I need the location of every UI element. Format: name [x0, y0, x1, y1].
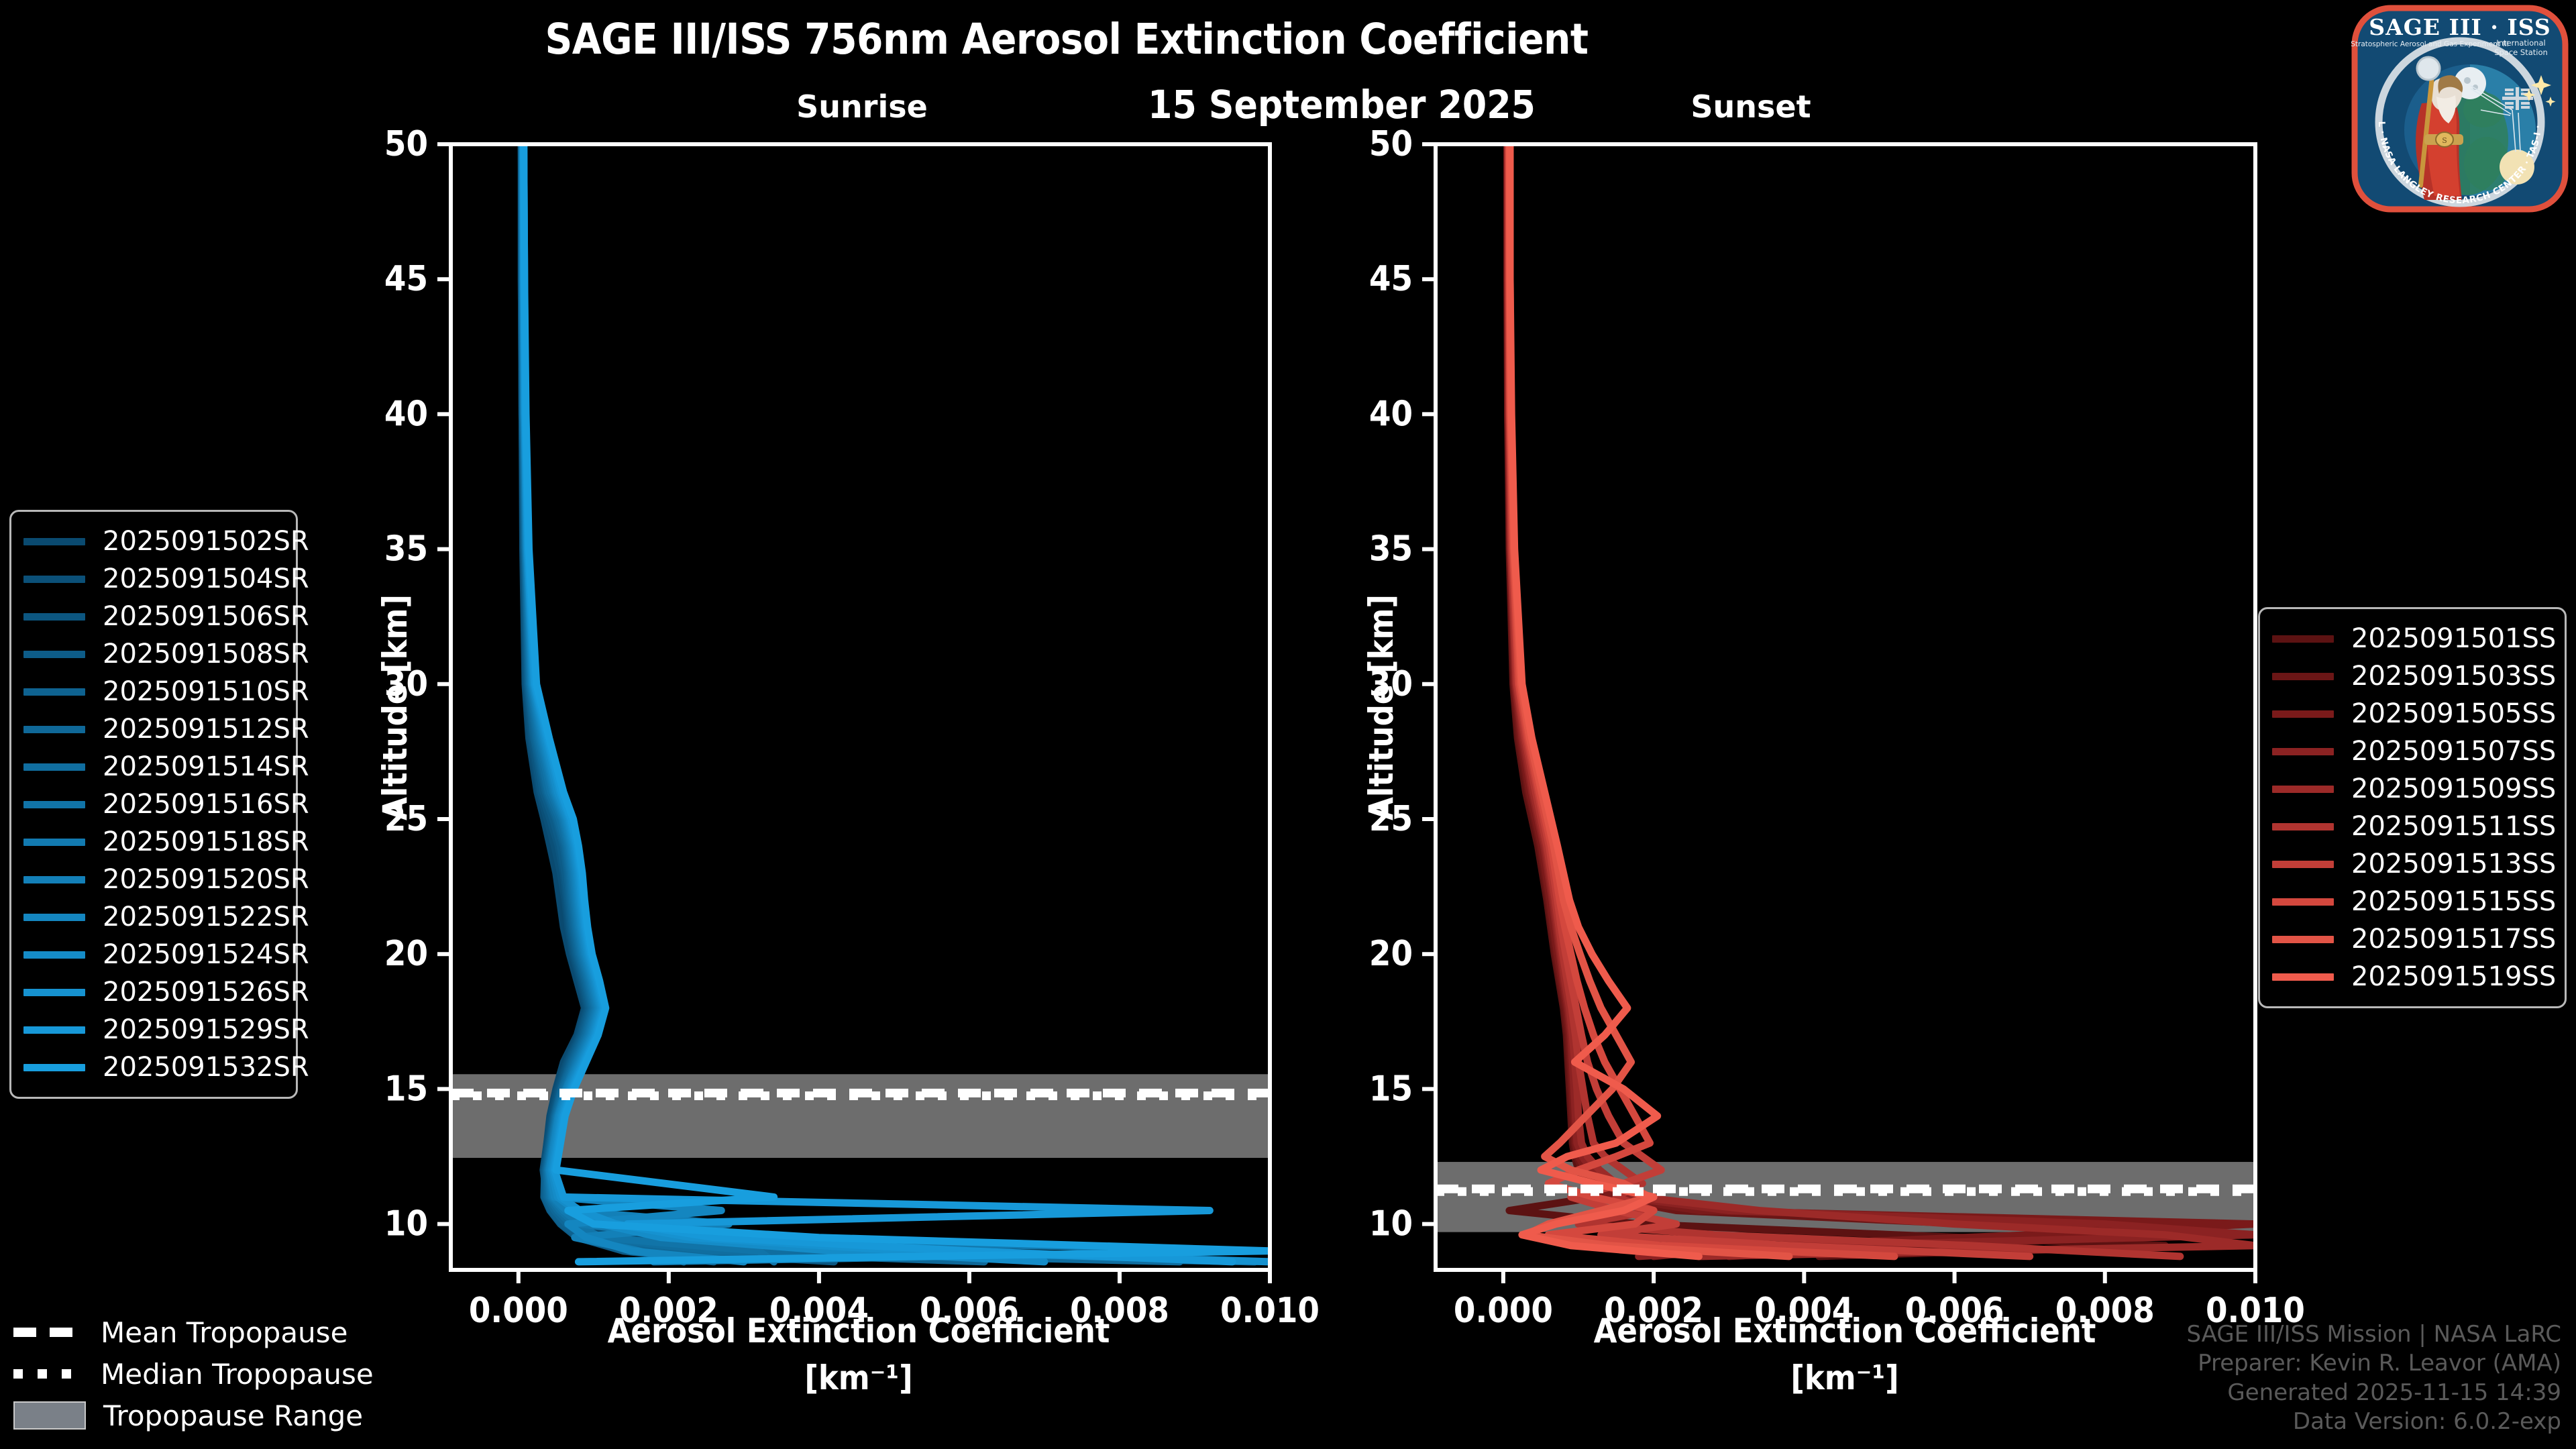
- plot-area-right: 1015202530354045500.0000.0020.0040.0060.…: [1369, 124, 2305, 1331]
- y-tick-label: 40: [384, 394, 428, 434]
- y-tick-label: 40: [1369, 394, 1413, 434]
- legend-label: 2025091514SR: [103, 751, 309, 782]
- sage-iii-iss-logo: S BALL · NASA LANGLEY RESEARCH CENTER · …: [2349, 3, 2571, 214]
- legend-color-swatch: [23, 613, 85, 621]
- credit-line-mission: SAGE III/ISS Mission | NASA LaRC: [2186, 1320, 2561, 1350]
- y-tick-label: 50: [1369, 124, 1413, 164]
- legend-color-swatch: [23, 763, 85, 771]
- legend-label: 2025091515SS: [2351, 886, 2556, 917]
- legend-color-swatch: [2272, 898, 2334, 906]
- y-axis-label-right: Altitude [km]: [1362, 594, 1401, 820]
- y-tick-label: 50: [384, 124, 428, 164]
- y-tick-label: 10: [384, 1204, 428, 1244]
- logo-subtitle-left: Stratospheric Aerosol and Gas Experiment…: [2351, 40, 2509, 48]
- legend-color-swatch: [2272, 936, 2334, 943]
- legend-color-swatch: [2272, 973, 2334, 981]
- legend-item-2025091514SR[interactable]: 2025091514SR: [23, 748, 281, 786]
- legend-item-2025091506SR[interactable]: 2025091506SR: [23, 598, 281, 635]
- y-tick-label: 20: [384, 934, 428, 974]
- x-axis-units-left: [km⁻¹]: [523, 1358, 1194, 1397]
- legend-label: 2025091512SR: [103, 714, 309, 745]
- legend-label: 2025091517SS: [2351, 924, 2556, 955]
- legend-color-swatch: [2272, 748, 2334, 755]
- legend-item-2025091515SS[interactable]: 2025091515SS: [2272, 883, 2550, 920]
- legend-label-mean-tropopause: Mean Tropopause: [101, 1316, 347, 1349]
- legend-label: 2025091504SR: [103, 563, 309, 594]
- legend-color-swatch: [23, 538, 85, 545]
- legend-color-swatch: [23, 989, 85, 996]
- y-tick-label: 45: [384, 259, 428, 299]
- legend-item-2025091519SS[interactable]: 2025091519SS: [2272, 958, 2550, 996]
- x-axis-units-right: [km⁻¹]: [1509, 1358, 2180, 1397]
- legend-label: 2025091532SR: [103, 1052, 309, 1083]
- dotted-line-icon: [13, 1369, 83, 1379]
- legend-label: 2025091505SS: [2351, 698, 2556, 729]
- legend-item-2025091507SS[interactable]: 2025091507SS: [2272, 733, 2550, 770]
- legend-item-2025091512SR[interactable]: 2025091512SR: [23, 710, 281, 748]
- legend-color-swatch: [23, 726, 85, 733]
- legend-color-swatch: [23, 576, 85, 583]
- x-tick-label: 0.010: [1220, 1291, 1320, 1331]
- legend-color-swatch: [23, 801, 85, 808]
- legend-color-swatch: [2272, 786, 2334, 793]
- x-axis-label-left: Aerosol Extinction Coefficient: [523, 1311, 1194, 1350]
- legend-item-2025091502SR[interactable]: 2025091502SR: [23, 523, 281, 560]
- y-tick-label: 35: [1369, 529, 1413, 570]
- legend-color-swatch: [2272, 823, 2334, 830]
- legend-color-swatch: [23, 876, 85, 883]
- credit-line-generated: Generated 2025-11-15 14:39: [2186, 1379, 2561, 1408]
- plot-background: [1436, 144, 2255, 1270]
- legend-color-swatch: [23, 914, 85, 921]
- y-tick-label: 45: [1369, 259, 1413, 299]
- legend-sunset[interactable]: 2025091501SS2025091503SS2025091505SS2025…: [2258, 607, 2567, 1008]
- legend-item-2025091520SR[interactable]: 2025091520SR: [23, 861, 281, 898]
- x-axis-label-right: Aerosol Extinction Coefficient: [1509, 1311, 2180, 1350]
- legend-label: 2025091529SR: [103, 1014, 309, 1045]
- legend-label: 2025091519SS: [2351, 961, 2556, 992]
- legend-label: 2025091522SR: [103, 902, 309, 932]
- legend-label: 2025091502SR: [103, 526, 309, 557]
- legend-color-swatch: [23, 951, 85, 959]
- legend-label: 2025091503SS: [2351, 661, 2556, 692]
- logo-subtitle-right-2: Space Station: [2494, 48, 2548, 57]
- legend-item-2025091503SS[interactable]: 2025091503SS: [2272, 657, 2550, 695]
- legend-item-2025091504SR[interactable]: 2025091504SR: [23, 560, 281, 598]
- y-tick-label: 15: [1369, 1069, 1413, 1109]
- legend-color-swatch: [23, 1064, 85, 1071]
- legend-item-2025091518SR[interactable]: 2025091518SR: [23, 823, 281, 861]
- legend-color-swatch: [2272, 861, 2334, 868]
- legend-label: 2025091510SR: [103, 676, 309, 707]
- legend-label-median-tropopause: Median Tropopause: [101, 1358, 374, 1391]
- legend-label: 2025091508SR: [103, 639, 309, 669]
- legend-color-swatch: [23, 688, 85, 696]
- y-tick-label: 15: [384, 1069, 428, 1109]
- legend-label: 2025091520SR: [103, 864, 309, 895]
- legend-item-2025091509SS[interactable]: 2025091509SS: [2272, 770, 2550, 808]
- legend-color-swatch: [2272, 635, 2334, 643]
- shaded-band-icon: [13, 1401, 86, 1430]
- credit-line-preparer: Preparer: Kevin R. Leavor (AMA): [2186, 1349, 2561, 1379]
- legend-sunrise[interactable]: 2025091502SR2025091504SR2025091506SR2025…: [9, 510, 298, 1099]
- legend-item-2025091526SR[interactable]: 2025091526SR: [23, 973, 281, 1011]
- plot-area-left: 1015202530354045500.0000.0020.0040.0060.…: [384, 124, 1320, 1331]
- legend-color-swatch: [23, 651, 85, 658]
- credit-line-data-version: Data Version: 6.0.2-exp: [2186, 1407, 2561, 1437]
- legend-item-2025091529SR[interactable]: 2025091529SR: [23, 1011, 281, 1049]
- legend-item-2025091505SS[interactable]: 2025091505SS: [2272, 695, 2550, 733]
- legend-color-swatch: [23, 839, 85, 846]
- logo-subtitle-right-1: International: [2496, 38, 2545, 48]
- legend-row-median-tropopause: Median Tropopause: [13, 1353, 389, 1395]
- legend-label: 2025091506SR: [103, 601, 309, 632]
- legend-item-2025091532SR[interactable]: 2025091532SR: [23, 1049, 281, 1086]
- legend-color-swatch: [23, 1026, 85, 1034]
- logo-title: SAGE III · ISS: [2369, 14, 2551, 40]
- legend-label: 2025091516SR: [103, 789, 309, 820]
- dashed-line-icon: [13, 1328, 83, 1337]
- y-tick-label: 20: [1369, 934, 1413, 974]
- y-axis-label-left: Altitude [km]: [376, 594, 415, 820]
- legend-row-mean-tropopause: Mean Tropopause: [13, 1311, 389, 1353]
- legend-item-2025091511SS[interactable]: 2025091511SS: [2272, 808, 2550, 845]
- legend-item-2025091501SS[interactable]: 2025091501SS: [2272, 620, 2550, 657]
- legend-label: 2025091507SS: [2351, 736, 2556, 767]
- legend-item-2025091508SR[interactable]: 2025091508SR: [23, 635, 281, 673]
- legend-label: 2025091524SR: [103, 939, 309, 970]
- legend-item-2025091513SS[interactable]: 2025091513SS: [2272, 845, 2550, 883]
- legend-item-2025091510SR[interactable]: 2025091510SR: [23, 673, 281, 710]
- legend-label: 2025091518SR: [103, 826, 309, 857]
- legend-label: 2025091511SS: [2351, 811, 2556, 842]
- legend-label: 2025091509SS: [2351, 773, 2556, 804]
- legend-label: 2025091501SS: [2351, 623, 2556, 654]
- legend-color-swatch: [2272, 673, 2334, 680]
- y-tick-label: 10: [1369, 1204, 1413, 1244]
- credits-block: SAGE III/ISS Mission | NASA LaRC Prepare…: [2186, 1320, 2561, 1437]
- legend-label: 2025091526SR: [103, 977, 309, 1008]
- legend-label: 2025091513SS: [2351, 849, 2556, 879]
- legend-row-tropopause-range: Tropopause Range: [13, 1395, 389, 1436]
- legend-item-2025091524SR[interactable]: 2025091524SR: [23, 936, 281, 973]
- legend-color-swatch: [2272, 710, 2334, 718]
- legend-item-2025091517SS[interactable]: 2025091517SS: [2272, 920, 2550, 958]
- legend-item-2025091522SR[interactable]: 2025091522SR: [23, 898, 281, 936]
- legend-item-2025091516SR[interactable]: 2025091516SR: [23, 786, 281, 823]
- legend-tropopause: Mean Tropopause Median Tropopause Tropop…: [13, 1311, 389, 1436]
- svg-text:S: S: [2442, 136, 2447, 145]
- legend-label-tropopause-range: Tropopause Range: [103, 1399, 363, 1432]
- y-tick-label: 35: [384, 529, 428, 570]
